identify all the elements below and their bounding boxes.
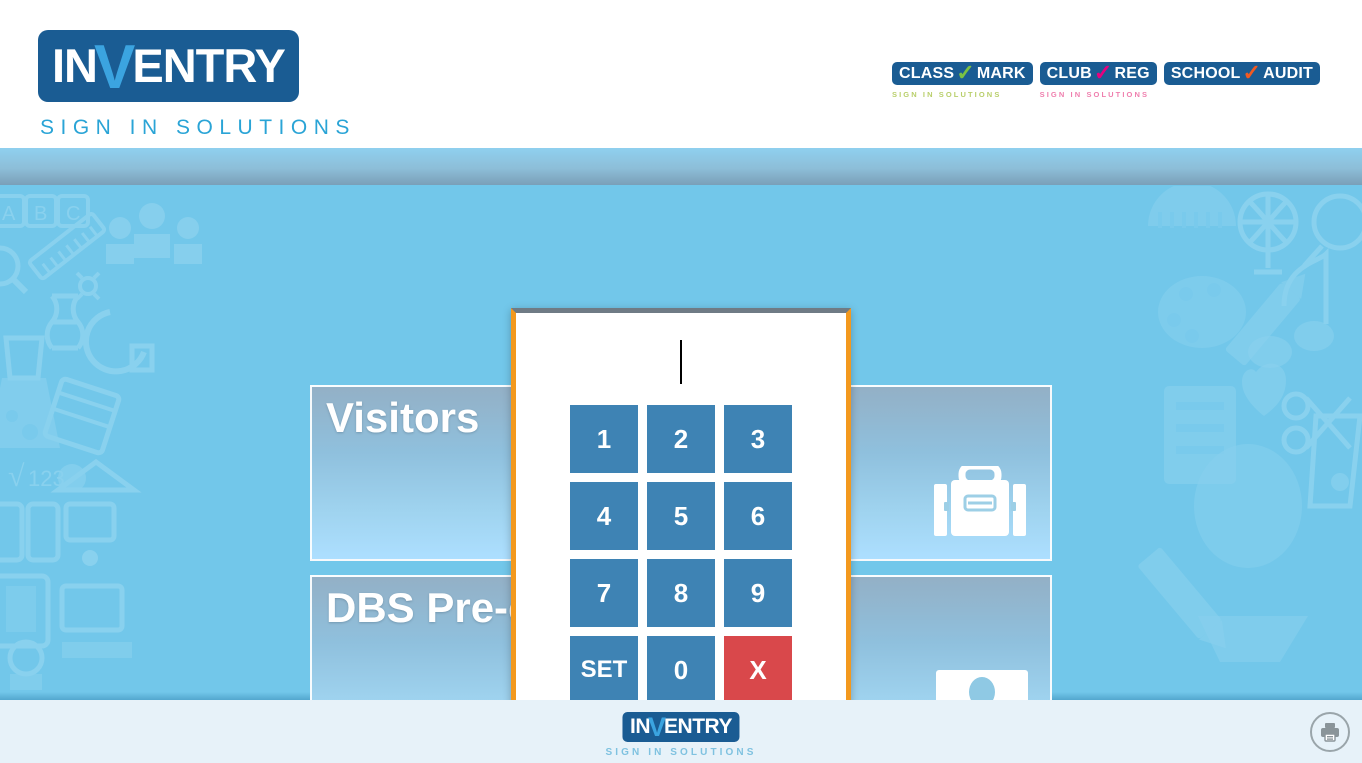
print-button[interactable]	[1310, 712, 1350, 752]
logo-tagline: SIGN IN SOLUTIONS	[40, 116, 356, 140]
classmark-badge: CLASS ✓ MARK	[892, 62, 1033, 85]
logo-text-entry: ENTRY	[132, 42, 285, 89]
pin-entry-dialog: 1 2 3 4 5 6 7 8 9 SET 0 X	[511, 308, 851, 700]
background-watermark-left: A B C √ 123	[0, 186, 292, 700]
partner-logo-classmark: CLASS ✓ MARK SIGN IN SOLUTIONS	[892, 62, 1033, 99]
briefcase-icon	[932, 466, 1028, 545]
footer-logo-text-in: IN	[630, 716, 650, 737]
page-footer: INVENTRY SIGN IN SOLUTIONS	[0, 700, 1362, 763]
main-content-area: A B C √ 123	[0, 148, 1362, 700]
main-top-gradient-band	[0, 148, 1362, 185]
clubreg-right-text: REG	[1115, 65, 1150, 83]
key-2[interactable]: 2	[647, 405, 715, 473]
partner-logo-clubreg: CLUB ✓ REG SIGN IN SOLUTIONS	[1040, 62, 1157, 99]
svg-text:C: C	[66, 203, 80, 225]
footer-wordmark: INVENTRY	[622, 712, 740, 742]
partner-logo-schoolaudit: SCHOOL ✓ AUDIT	[1164, 62, 1320, 85]
footer-logo-text-entry: ENTRY	[664, 716, 732, 737]
inventry-logo: INVENTRY SIGN IN SOLUTIONS	[38, 30, 356, 140]
clubreg-badge: CLUB ✓ REG	[1040, 62, 1157, 85]
schoolaudit-badge: SCHOOL ✓ AUDIT	[1164, 62, 1320, 85]
schoolaudit-right-text: AUDIT	[1263, 65, 1313, 83]
key-4[interactable]: 4	[570, 482, 638, 550]
background-watermark-right	[1078, 186, 1362, 700]
svg-text:B: B	[34, 203, 47, 225]
classmark-tagline: SIGN IN SOLUTIONS	[892, 90, 1033, 99]
printer-icon	[1319, 721, 1341, 743]
key-9[interactable]: 9	[724, 559, 792, 627]
key-cancel[interactable]: X	[724, 636, 792, 700]
page-header: INVENTRY SIGN IN SOLUTIONS CLASS ✓ MARK …	[0, 0, 1362, 148]
partner-logos: CLASS ✓ MARK SIGN IN SOLUTIONS CLUB ✓ RE…	[892, 62, 1320, 99]
key-6[interactable]: 6	[724, 482, 792, 550]
id-card-person-icon	[936, 670, 1028, 700]
tile-visitors-label: Visitors	[326, 395, 479, 441]
logo-text-v: V	[94, 37, 135, 99]
key-0[interactable]: 0	[647, 636, 715, 700]
clubreg-left-text: CLUB	[1047, 65, 1092, 83]
check-icon: ✓	[1242, 62, 1261, 84]
svg-text:A: A	[2, 203, 16, 225]
key-7[interactable]: 7	[570, 559, 638, 627]
numeric-keypad: 1 2 3 4 5 6 7 8 9 SET 0 X	[516, 405, 846, 700]
logo-text-in: IN	[52, 42, 97, 89]
svg-text:123: 123	[28, 466, 65, 491]
schoolaudit-left-text: SCHOOL	[1171, 65, 1241, 83]
clubreg-tagline: SIGN IN SOLUTIONS	[1040, 90, 1157, 99]
key-3[interactable]: 3	[724, 405, 792, 473]
check-icon: ✓	[1094, 62, 1113, 84]
footer-logo-text-v: V	[648, 714, 666, 741]
inventry-sign-in-screen: INVENTRY SIGN IN SOLUTIONS CLASS ✓ MARK …	[0, 0, 1362, 763]
classmark-left-text: CLASS	[899, 65, 954, 83]
classmark-right-text: MARK	[977, 65, 1026, 83]
pin-display[interactable]	[516, 313, 846, 393]
key-set[interactable]: SET	[570, 636, 638, 700]
key-1[interactable]: 1	[570, 405, 638, 473]
text-caret	[680, 340, 682, 384]
check-icon: ✓	[956, 62, 975, 84]
key-8[interactable]: 8	[647, 559, 715, 627]
footer-logo-tagline: SIGN IN SOLUTIONS	[605, 747, 756, 758]
footer-inventry-logo: INVENTRY SIGN IN SOLUTIONS	[605, 712, 756, 758]
inventry-wordmark: INVENTRY	[38, 30, 299, 102]
key-5[interactable]: 5	[647, 482, 715, 550]
svg-text:√: √	[8, 460, 25, 493]
